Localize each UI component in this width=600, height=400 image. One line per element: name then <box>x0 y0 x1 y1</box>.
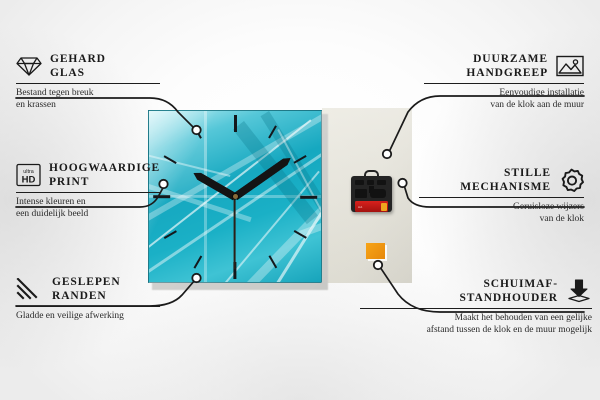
feature-stille-mechanisme: STILLE MECHANISME Geruisloze wijzers van… <box>394 166 584 225</box>
feature-hoogwaardige-print: ultra HD HOOGWAARDIGE PRINT Intense kleu… <box>16 161 206 220</box>
feature-description: Geruisloze wijzers van de klok <box>394 202 584 225</box>
diamond-icon <box>16 55 42 77</box>
ultra-hd-icon: ultra HD <box>16 163 41 187</box>
feature-divider <box>16 306 160 307</box>
feature-divider <box>419 197 584 198</box>
second-hand <box>234 197 236 269</box>
feature-title: HOOGWAARDIGE PRINT <box>49 161 160 189</box>
feature-description: Maakt het behouden van een gelijke afsta… <box>352 313 592 336</box>
feature-gehard-glas: GEHARD GLAS Bestand tegen breuk en krass… <box>16 52 176 111</box>
battery-label: AA <box>358 205 362 209</box>
tick-12 <box>234 113 236 197</box>
feature-description: Bestand tegen breuk en krassen <box>16 88 176 111</box>
svg-text:HD: HD <box>22 175 36 186</box>
foam-spacer-pad <box>366 243 385 259</box>
mechanism-vent <box>370 189 386 198</box>
picture-frame-icon <box>556 55 584 77</box>
clock-mechanism[interactable]: AA <box>351 170 392 212</box>
infographic-canvas: AA <box>0 0 600 400</box>
feature-divider <box>424 83 584 84</box>
mechanism-vent <box>377 180 386 185</box>
hands-center-cap <box>233 194 238 199</box>
feature-description: Eenvoudige installatie van de klok aan d… <box>394 88 584 111</box>
feature-divider <box>16 192 160 193</box>
feature-description: Gladde en veilige afwerking <box>16 311 196 323</box>
battery-positive-terminal <box>381 203 387 211</box>
mechanism-vent <box>367 180 374 185</box>
mechanism-vent <box>355 189 367 198</box>
beveled-edges-icon <box>16 278 44 301</box>
feature-divider <box>360 308 592 309</box>
feature-geslepen-randen: GESLEPEN RANDEN Gladde en veilige afwerk… <box>16 275 196 323</box>
feature-title: GEHARD GLAS <box>50 52 106 80</box>
battery: AA <box>355 201 388 212</box>
mechanism-vent <box>355 180 364 185</box>
feature-description: Intense kleuren en een duidelijk beeld <box>16 197 206 220</box>
feature-title: GESLEPEN RANDEN <box>52 275 121 303</box>
gear-icon <box>559 168 584 193</box>
feature-title: SCHUIMAF- STANDHOUDER <box>459 277 558 305</box>
feature-duurzame-handgreep: DUURZAME HANDGREEP Eenvoudige installati… <box>394 52 584 111</box>
mechanism-body: AA <box>351 176 392 212</box>
feature-title: DUURZAME HANDGREEP <box>466 52 548 80</box>
tick-3 <box>235 195 319 197</box>
feature-title: STILLE MECHANISME <box>460 166 551 194</box>
feature-schuimafstandhouder: SCHUIMAF- STANDHOUDER Maakt het behouden… <box>352 277 592 336</box>
feature-divider <box>16 83 160 84</box>
down-arrow-pad-icon <box>566 279 592 303</box>
